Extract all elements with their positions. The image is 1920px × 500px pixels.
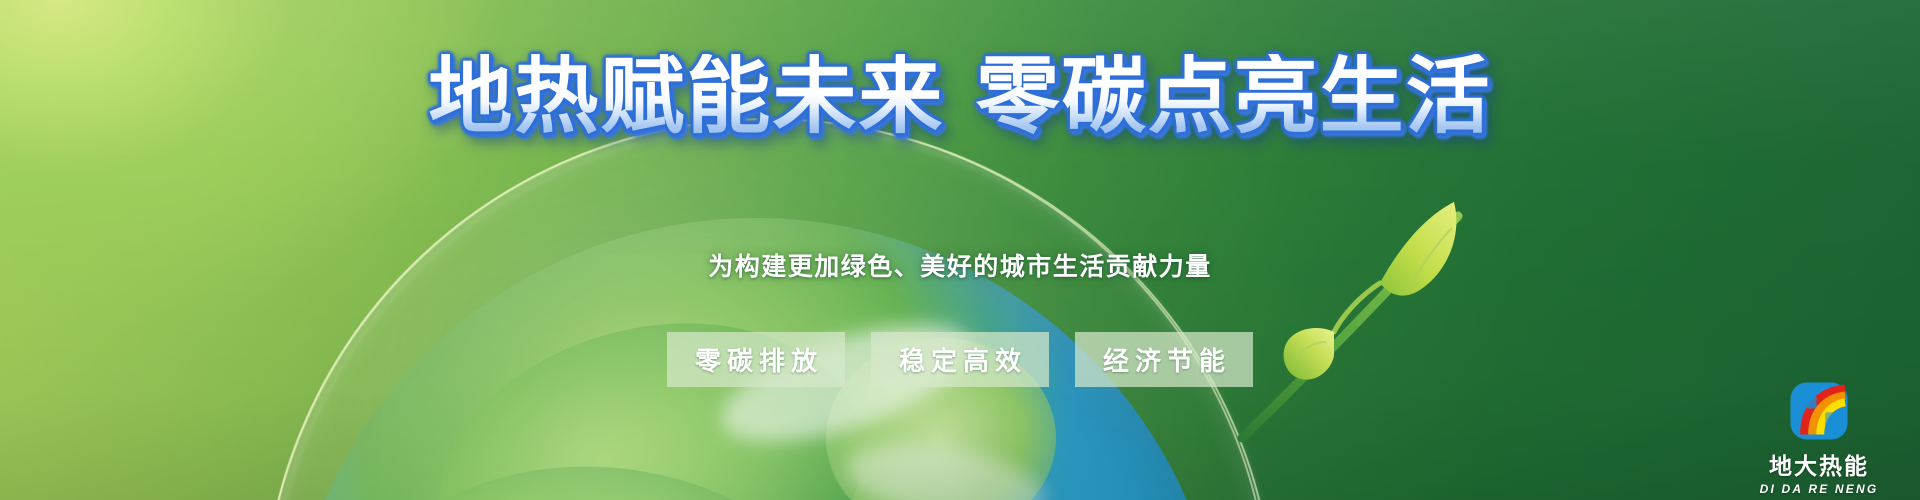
sprout-svg xyxy=(1230,120,1530,450)
subtitle-container: 为构建更加绿色、美好的城市生活贡献力量 xyxy=(0,247,1920,283)
company-logo[interactable]: 地大热能 DI DA RE NENG xyxy=(1754,380,1884,496)
hero-banner: 地热赋能未来 零碳点亮生活 为构建更加绿色、美好的城市生活贡献力量 零碳排放 稳… xyxy=(0,0,1920,500)
logo-name-cn: 地大热能 xyxy=(1769,447,1869,481)
feature-tag-stable-efficient[interactable]: 稳定高效 xyxy=(871,332,1049,387)
logo-name-en: DI DA RE NENG xyxy=(1760,482,1879,496)
banner-title: 地热赋能未来 零碳点亮生活 xyxy=(428,54,1491,138)
feature-tag-zero-carbon[interactable]: 零碳排放 xyxy=(667,332,845,387)
feature-tag-economic-saving[interactable]: 经济节能 xyxy=(1075,332,1253,387)
rainbow-arc-logo-icon xyxy=(1788,380,1850,442)
banner-subtitle: 为构建更加绿色、美好的城市生活贡献力量 xyxy=(708,247,1212,283)
title-container: 地热赋能未来 零碳点亮生活 xyxy=(0,54,1920,138)
green-sprout-graphic xyxy=(1230,120,1530,450)
feature-tag-list: 零碳排放 稳定高效 经济节能 xyxy=(0,332,1920,387)
